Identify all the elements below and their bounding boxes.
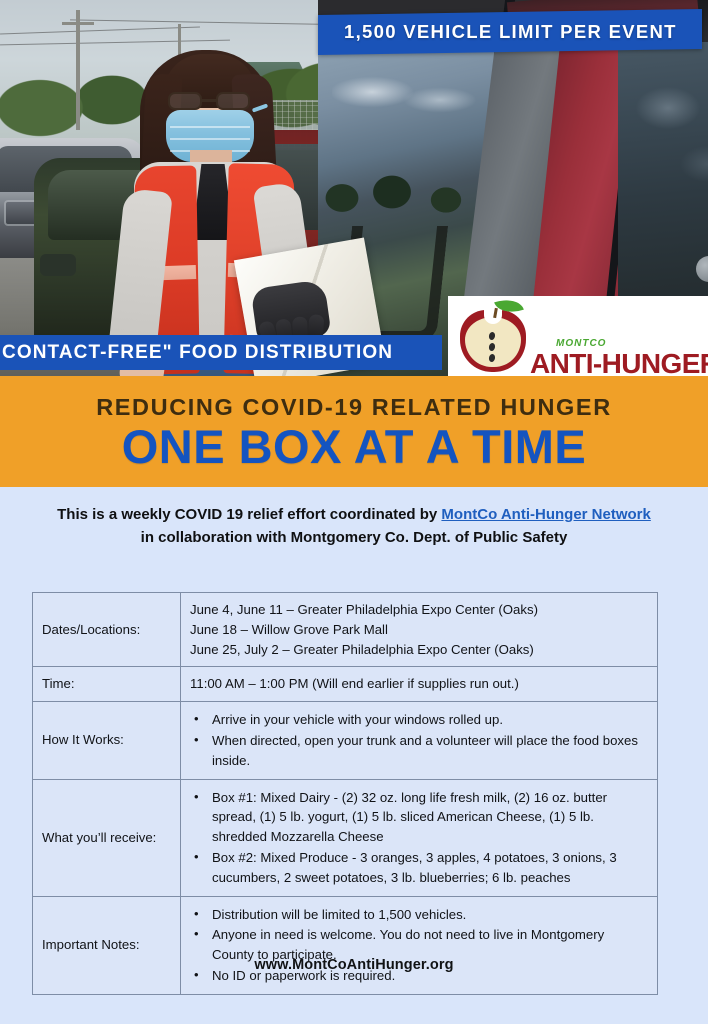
intro-text-before-link: This is a weekly COVID 19 relief effort … (57, 506, 441, 523)
date-line: June 18 – Willow Grove Park Mall (190, 620, 648, 640)
row-value-important-notes: Distribution will be limited to 1,500 ve… (181, 896, 658, 994)
row-label-what-youll-receive: What you’ll receive: (33, 779, 181, 896)
list-item: Box #1: Mixed Dairy - (2) 32 oz. long li… (190, 788, 648, 847)
intro-line-2: in collaboration with Montgomery Co. Dep… (0, 526, 708, 549)
bullet-list: Arrive in your vehicle with your windows… (190, 710, 648, 770)
date-line: June 4, June 11 – Greater Philadelphia E… (190, 600, 648, 620)
list-item: Box #2: Mixed Produce - 3 oranges, 3 app… (190, 848, 648, 888)
eyeglasses-icon (168, 92, 252, 110)
row-label-how-it-works: How It Works: (33, 702, 181, 779)
table-row: How It Works: Arrive in your vehicle wit… (33, 702, 658, 779)
logo-anti-hunger-text: ANTI-HUNGER (530, 348, 708, 376)
bullet-list: Distribution will be limited to 1,500 ve… (190, 905, 648, 986)
vehicle-limit-banner: 1,500 VEHICLE LIMIT PER EVENT (318, 9, 702, 55)
row-label-time: Time: (33, 667, 181, 702)
date-line: June 25, July 2 – Greater Philadelphia E… (190, 640, 648, 660)
flyer-page: 1,500 VEHICLE LIMIT PER EVENT CONTACT-FR… (0, 0, 708, 1024)
intro-line-1: This is a weekly COVID 19 relief effort … (0, 503, 708, 526)
list-item: Arrive in your vehicle with your windows… (190, 710, 648, 730)
headline-banner: REDUCING COVID-19 RELATED HUNGER ONE BOX… (0, 376, 708, 487)
details-table: Dates/Locations: June 4, June 11 – Great… (32, 592, 658, 995)
apple-icon (456, 298, 530, 374)
row-value-dates: June 4, June 11 – Greater Philadelphia E… (181, 593, 658, 667)
row-value-what-youll-receive: Box #1: Mixed Dairy - (2) 32 oz. long li… (181, 779, 658, 896)
utility-pole (76, 10, 80, 130)
intro-paragraph: This is a weekly COVID 19 relief effort … (0, 503, 708, 550)
headline-subtitle: REDUCING COVID-19 RELATED HUNGER (96, 394, 612, 421)
headline-title: ONE BOX AT A TIME (122, 423, 587, 470)
row-label-dates: Dates/Locations: (33, 593, 181, 667)
contact-free-banner: CONTACT-FREE" FOOD DISTRIBUTION (0, 335, 442, 370)
row-value-how-it-works: Arrive in your vehicle with your windows… (181, 702, 658, 779)
montco-anti-hunger-logo: MONTCO ANTI-HUNGER NETWORK (448, 296, 708, 376)
list-item: When directed, open your trunk and a vol… (190, 731, 648, 771)
table-row: What you’ll receive: Box #1: Mixed Dairy… (33, 779, 658, 896)
table-row: Time: 11:00 AM – 1:00 PM (Will end earli… (33, 667, 658, 702)
row-label-important-notes: Important Notes: (33, 896, 181, 994)
montco-anti-hunger-link[interactable]: MontCo Anti-Hunger Network (441, 506, 650, 523)
row-value-time: 11:00 AM – 1:00 PM (Will end earlier if … (181, 667, 658, 702)
contact-free-text: CONTACT-FREE" FOOD DISTRIBUTION (2, 342, 393, 364)
bullet-list: Box #1: Mixed Dairy - (2) 32 oz. long li… (190, 788, 648, 888)
hero-photo: 1,500 VEHICLE LIMIT PER EVENT CONTACT-FR… (0, 0, 708, 376)
table-row: Important Notes: Distribution will be li… (33, 896, 658, 994)
footer-website[interactable]: www.MontCoAntiHunger.org (0, 957, 708, 973)
list-item: Distribution will be limited to 1,500 ve… (190, 905, 648, 925)
vehicle-limit-text: 1,500 VEHICLE LIMIT PER EVENT (344, 21, 677, 43)
table-row: Dates/Locations: June 4, June 11 – Great… (33, 593, 658, 667)
volunteer-figure (86, 34, 366, 376)
